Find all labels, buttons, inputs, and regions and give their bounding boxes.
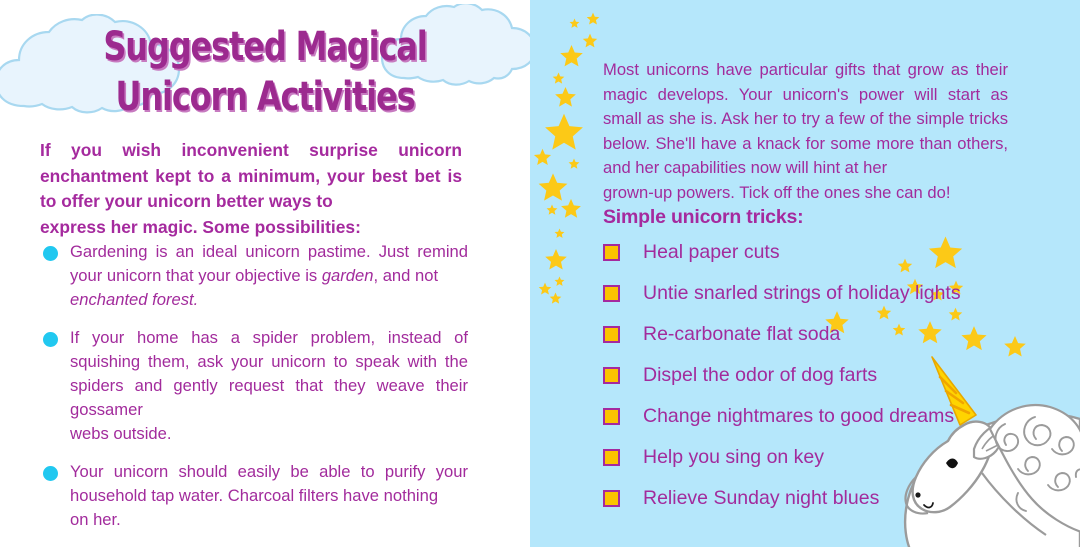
bullet-body-3: Your unicorn should easily be able to pu… [70,462,468,505]
star-icon [533,148,552,167]
star-icon [569,18,580,29]
bullet-body-2: If your home has a spider problem, inste… [70,328,468,419]
bullet-mid-1: , and not [373,266,438,285]
checkbox-label: Re-carbonate flat soda [643,320,840,348]
intro-paragraph: If you wish inconvenient surprise unicor… [40,138,462,240]
star-icon [554,276,565,287]
star-icon [554,86,577,109]
star-icon [554,228,565,239]
star-icon [582,33,598,49]
bullet-dot-icon [43,466,58,481]
list-item: If your home has a spider problem, inste… [40,326,468,446]
bullet-dot-icon [43,332,58,347]
checkbox-label: Help you sing on key [643,443,824,471]
poster-page: Suggested Magical Unicorn Activities If … [0,0,1080,547]
checkbox-icon[interactable] [603,244,620,261]
star-icon [568,158,580,170]
bullet-dot-icon [43,246,58,261]
right-intro-paragraph: Most unicorns have particular gifts that… [603,58,1008,205]
star-icon [559,44,584,69]
checkbox-icon[interactable] [603,326,620,343]
right-intro-last-line: grown-up powers. Tick off the ones she c… [603,181,1008,206]
checkbox-label: Dispel the odor of dog farts [643,361,877,389]
star-icon [546,204,558,216]
bullet-last-2: webs outside. [70,422,468,446]
star-icon [549,292,562,305]
star-icon [560,198,582,220]
checkbox-label: Heal paper cuts [643,238,780,266]
bullet-italic-enchanted-forest: enchanted forest. [70,288,468,312]
list-item: Gardening is an ideal unicorn pastime. J… [40,240,468,312]
checkbox-icon[interactable] [603,408,620,425]
bullet-last-3: on her. [70,508,468,532]
checkbox-icon[interactable] [603,285,620,302]
checkbox-icon[interactable] [603,449,620,466]
checkbox-label: Untie snarled strings of holiday lights [643,279,961,307]
title-line-2: Unicorn Activities [77,72,453,122]
star-icon [552,72,565,85]
tricks-heading: Simple unicorn tricks: [603,206,803,229]
star-icon [586,12,600,26]
intro-body: If you wish inconvenient surprise unicor… [40,140,462,211]
intro-last-line: express her magic. Some possibilities: [40,215,462,241]
title-line-1: Suggested Magical [77,22,453,72]
left-panel: Suggested Magical Unicorn Activities If … [0,0,530,547]
checkbox-icon[interactable] [603,490,620,507]
right-panel: Most unicorns have particular gifts that… [530,0,1080,547]
checkbox-label: Relieve Sunday night blues [643,484,879,512]
bullet-italic-garden: garden [322,266,374,285]
list-item: Your unicorn should easily be able to pu… [40,460,468,532]
page-title: Suggested Magical Unicorn Activities [30,22,500,122]
star-icon [544,248,568,272]
right-intro-body: Most unicorns have particular gifts that… [603,60,1008,177]
bullet-list: Gardening is an ideal unicorn pastime. J… [40,240,468,546]
unicorn-illustration [870,323,1080,547]
list-item[interactable]: Heal paper cuts [603,238,1033,279]
list-item[interactable]: Untie snarled strings of holiday lights [603,279,1033,320]
checkbox-icon[interactable] [603,367,620,384]
